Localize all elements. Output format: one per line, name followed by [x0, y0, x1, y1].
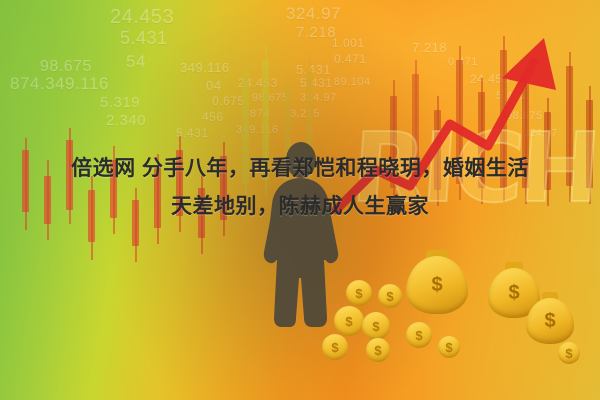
gold-coin: $ — [362, 312, 390, 340]
image-canvas: 24.453324.975.4317.2181.001540.47198.675… — [0, 0, 600, 400]
gold-coin: $ — [438, 336, 460, 358]
gold-coin: $ — [558, 342, 580, 364]
coin-dollar-symbol: $ — [322, 334, 348, 360]
gold-coin: $ — [334, 306, 364, 336]
headline-line-2: 天差地别，陈赫成人生赢家 — [0, 188, 600, 226]
gold-coin: $ — [346, 280, 372, 306]
money-bag: $ — [526, 298, 574, 344]
money-bag: $ — [406, 256, 468, 314]
gold-coin: $ — [366, 338, 390, 362]
coin-dollar-symbol: $ — [378, 284, 402, 308]
headline-overlay: 倍选网 分手八年，再看郑恺和程晓玥，婚姻生活 天差地别，陈赫成人生赢家 — [0, 150, 600, 226]
gold-coin: $ — [406, 322, 432, 348]
coin-dollar-symbol: $ — [406, 322, 432, 348]
gold-coins-and-money-bags: $$$$$$$$$$$$ — [320, 250, 600, 390]
coin-dollar-symbol: $ — [558, 342, 580, 364]
gold-coin: $ — [322, 334, 348, 360]
coin-dollar-symbol: $ — [334, 306, 364, 336]
coin-dollar-symbol: $ — [362, 312, 390, 340]
gold-coin: $ — [378, 284, 402, 308]
coin-dollar-symbol: $ — [346, 280, 372, 306]
headline-line-1: 倍选网 分手八年，再看郑恺和程晓玥，婚姻生活 — [0, 150, 600, 188]
coin-dollar-symbol: $ — [366, 338, 390, 362]
coin-dollar-symbol: $ — [438, 336, 460, 358]
money-bag-dollar-symbol: $ — [406, 256, 468, 314]
money-bag-dollar-symbol: $ — [526, 298, 574, 344]
